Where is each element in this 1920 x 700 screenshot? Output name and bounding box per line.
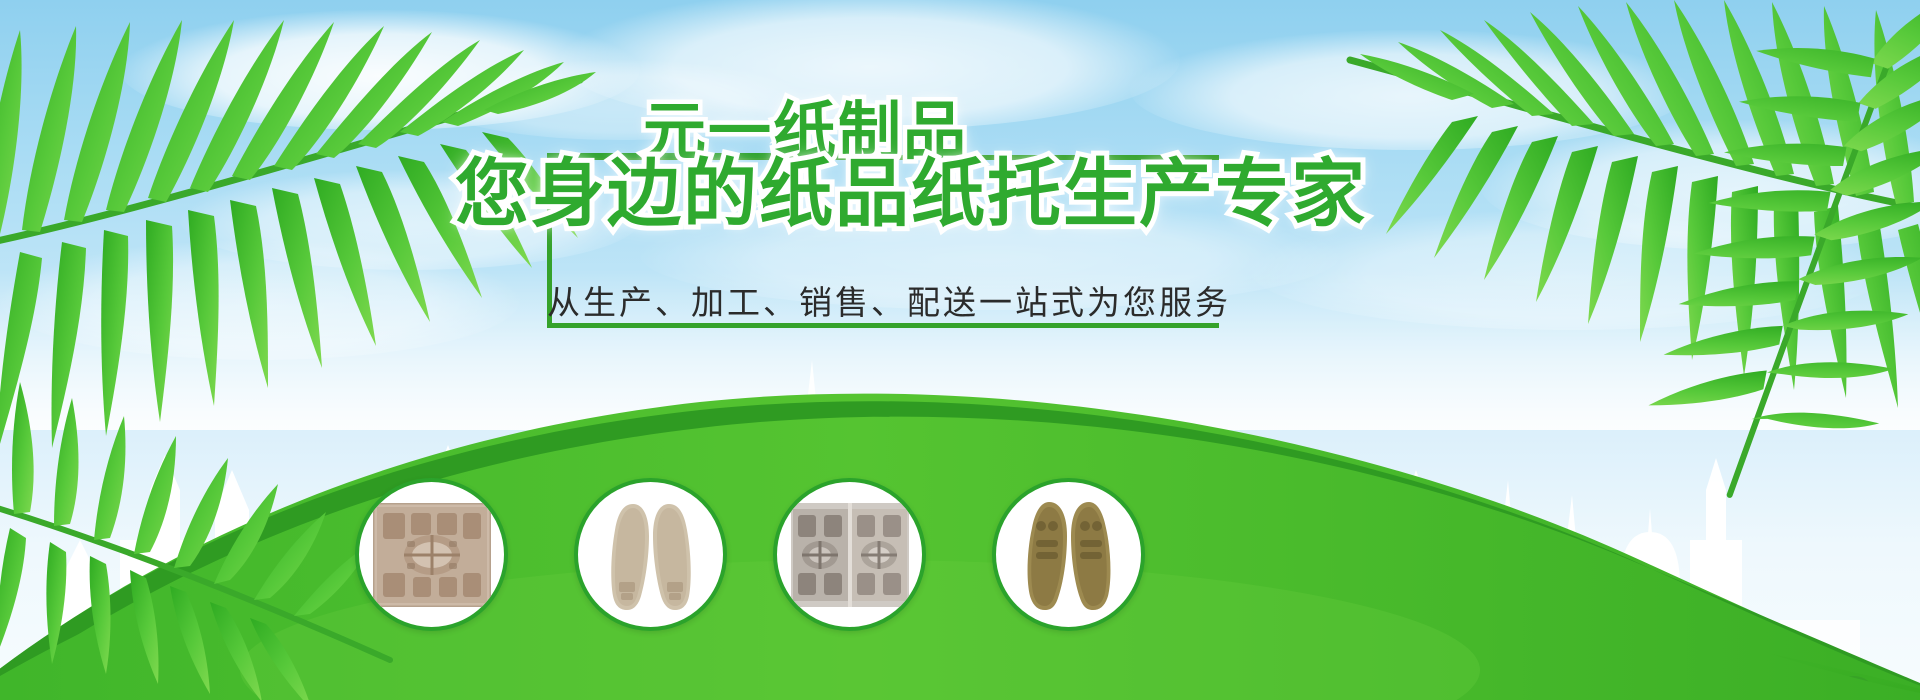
paper-pulp-shoe-tree-pair-image: [603, 496, 699, 614]
product-circle-paper-pulp-shoe-tree-pair[interactable]: [574, 478, 727, 631]
product-showcase: [355, 478, 1187, 638]
paper-pulp-shoe-insert-image: [1021, 496, 1117, 614]
paper-pulp-molded-pair-image: [791, 503, 909, 607]
product-circle-paper-pulp-molded-pair[interactable]: [773, 478, 926, 631]
product-circle-paper-pulp-shoe-insert[interactable]: [992, 478, 1145, 631]
subtitle: 从生产、加工、销售、配送一站式为您服务: [547, 285, 1219, 321]
page-title: 您身边的纸品纸托生产专家: [455, 157, 1367, 231]
paper-pulp-tray-square-image: [373, 503, 491, 607]
cloud: [1480, 120, 1920, 250]
product-circle-paper-pulp-tray-square[interactable]: [355, 478, 508, 631]
headline-block: 元一纸制品 您身边的纸品纸托生产专家 从生产、加工、销售、配送一站式为您服务: [547, 101, 1219, 274]
promo-banner: 元一纸制品 您身边的纸品纸托生产专家 从生产、加工、销售、配送一站式为您服务: [0, 0, 1920, 700]
